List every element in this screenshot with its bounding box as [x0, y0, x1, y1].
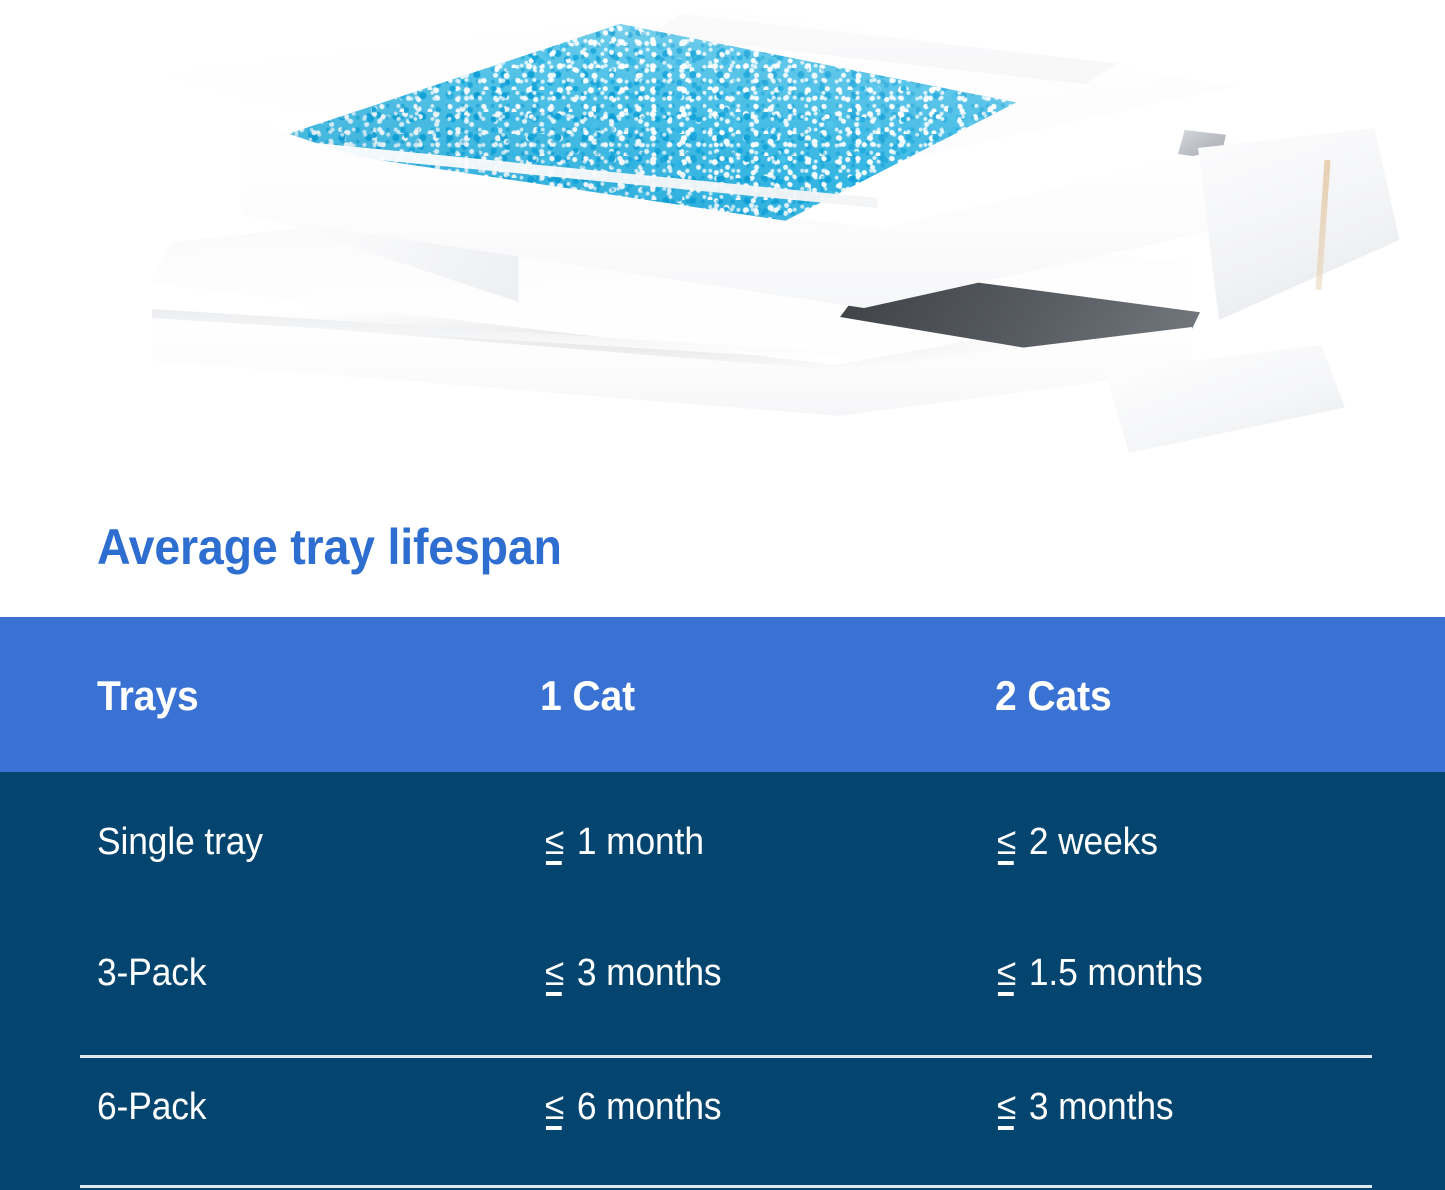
- cell-3-pack-1-cat: ≤ 3 months: [545, 952, 721, 995]
- less-than-or-equal-icon: ≤: [545, 1086, 567, 1129]
- cell-value: 1 month: [577, 821, 704, 863]
- cell-value: 3 months: [1029, 1086, 1174, 1128]
- less-than-or-equal-icon: ≤: [997, 952, 1019, 995]
- cell-value: 6 months: [577, 1086, 722, 1128]
- cell-value: 3 months: [577, 952, 722, 994]
- less-than-or-equal-icon: ≤: [545, 821, 567, 864]
- row-label-3-pack: 3-Pack: [97, 952, 206, 995]
- less-than-or-equal-icon: ≤: [997, 821, 1019, 864]
- cell-single-tray-2-cats: ≤ 2 weeks: [997, 821, 1158, 864]
- cell-single-tray-1-cat: ≤ 1 month: [545, 821, 704, 864]
- cell-value: 2 weeks: [1029, 821, 1158, 863]
- column-header-2-cats: 2 Cats: [995, 672, 1112, 720]
- product-photo-stage: [0, 0, 1445, 470]
- table-header-row: Trays 1 Cat 2 Cats: [0, 617, 1445, 772]
- cell-6-pack-2-cats: ≤ 3 months: [997, 1086, 1173, 1129]
- infographic-page: Average tray lifespan Trays 1 Cat 2 Cats…: [0, 0, 1445, 1190]
- cell-6-pack-1-cat: ≤ 6 months: [545, 1086, 721, 1129]
- product-photo: [0, 0, 1445, 470]
- upper-litter-tray: [158, 10, 1238, 370]
- column-header-1-cat: 1 Cat: [540, 672, 635, 720]
- upper-tray-right-wall: [1198, 128, 1408, 328]
- lifespan-table: Trays 1 Cat 2 Cats Single tray ≤ 1 month…: [0, 617, 1445, 1190]
- cell-value: 1.5 months: [1029, 952, 1203, 994]
- row-divider-1: [80, 1055, 1372, 1058]
- row-divider-2: [80, 1185, 1372, 1188]
- less-than-or-equal-icon: ≤: [545, 952, 567, 995]
- column-header-trays: Trays: [97, 672, 199, 720]
- cell-3-pack-2-cats: ≤ 1.5 months: [997, 952, 1203, 995]
- row-label-single-tray: Single tray: [97, 821, 263, 864]
- row-label-6-pack: 6-Pack: [97, 1086, 206, 1129]
- less-than-or-equal-icon: ≤: [997, 1086, 1019, 1129]
- table-body: Single tray ≤ 1 month ≤ 2 weeks 3-Pack ≤…: [0, 772, 1445, 1190]
- page-title: Average tray lifespan: [97, 518, 562, 576]
